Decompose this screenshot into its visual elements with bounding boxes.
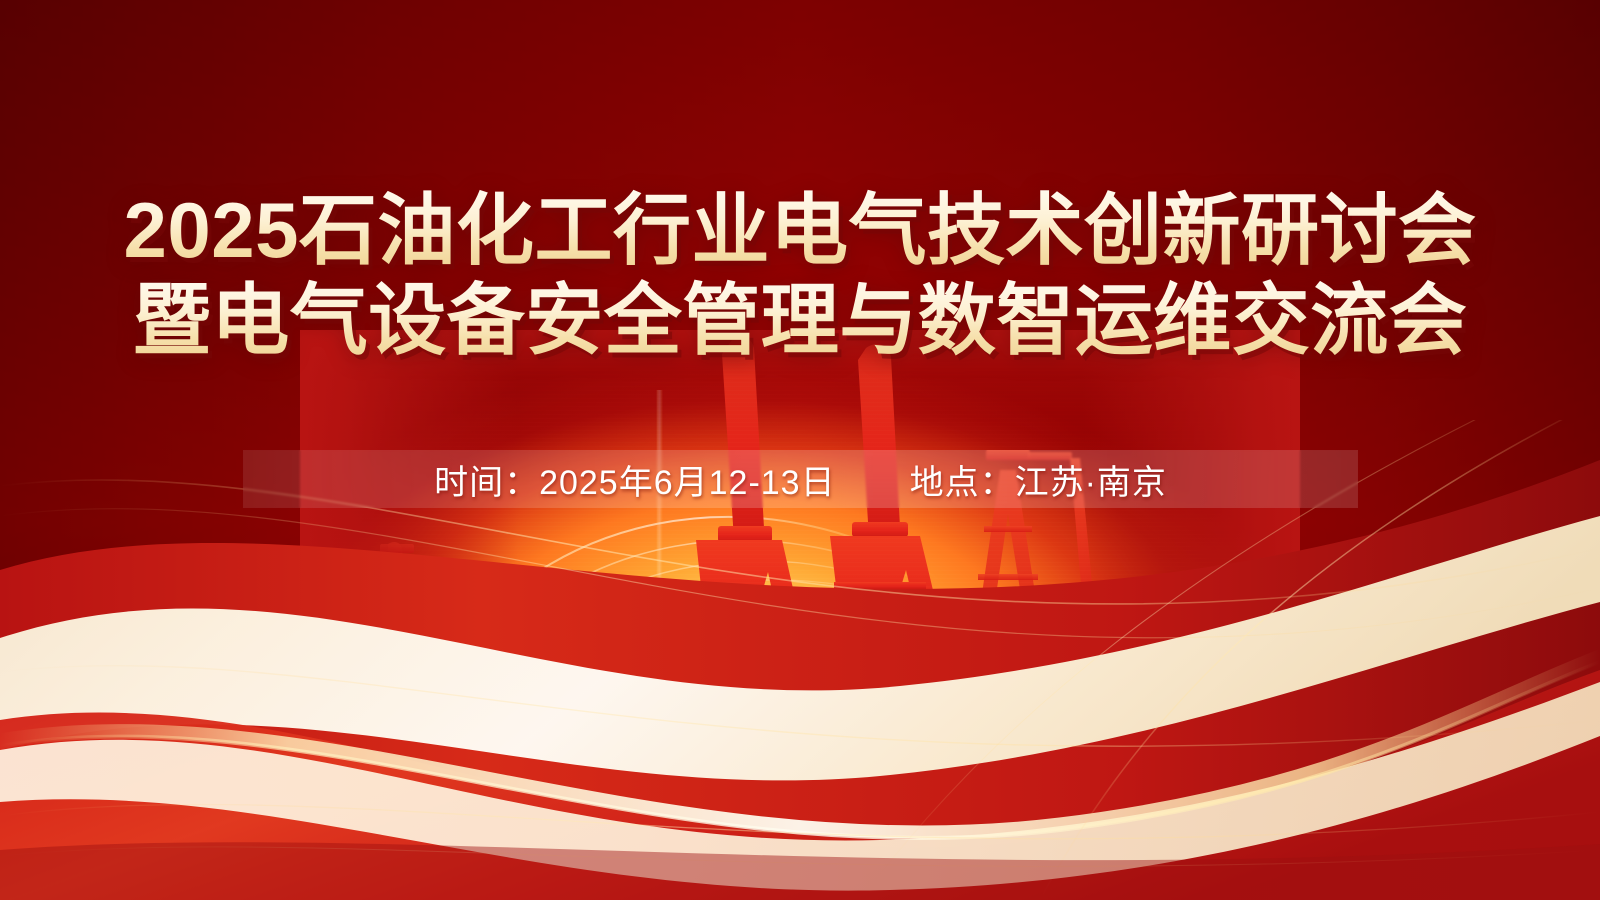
title-line-1: 2025石油化工行业电气技术创新研讨会	[0, 188, 1600, 272]
title-line-2: 暨电气设备安全管理与数智运维交流会	[0, 278, 1600, 362]
event-details-bar: 时间：2025年6月12-13日 地点：江苏·南京	[243, 450, 1358, 508]
banner-title-block: 2025石油化工行业电气技术创新研讨会 暨电气设备安全管理与数智运维交流会	[0, 188, 1600, 362]
event-location: 地点：江苏·南京	[910, 455, 1167, 504]
event-date: 时间：2025年6月12-13日	[434, 455, 836, 504]
conference-banner: 2025石油化工行业电气技术创新研讨会 暨电气设备安全管理与数智运维交流会 时间…	[0, 0, 1600, 900]
